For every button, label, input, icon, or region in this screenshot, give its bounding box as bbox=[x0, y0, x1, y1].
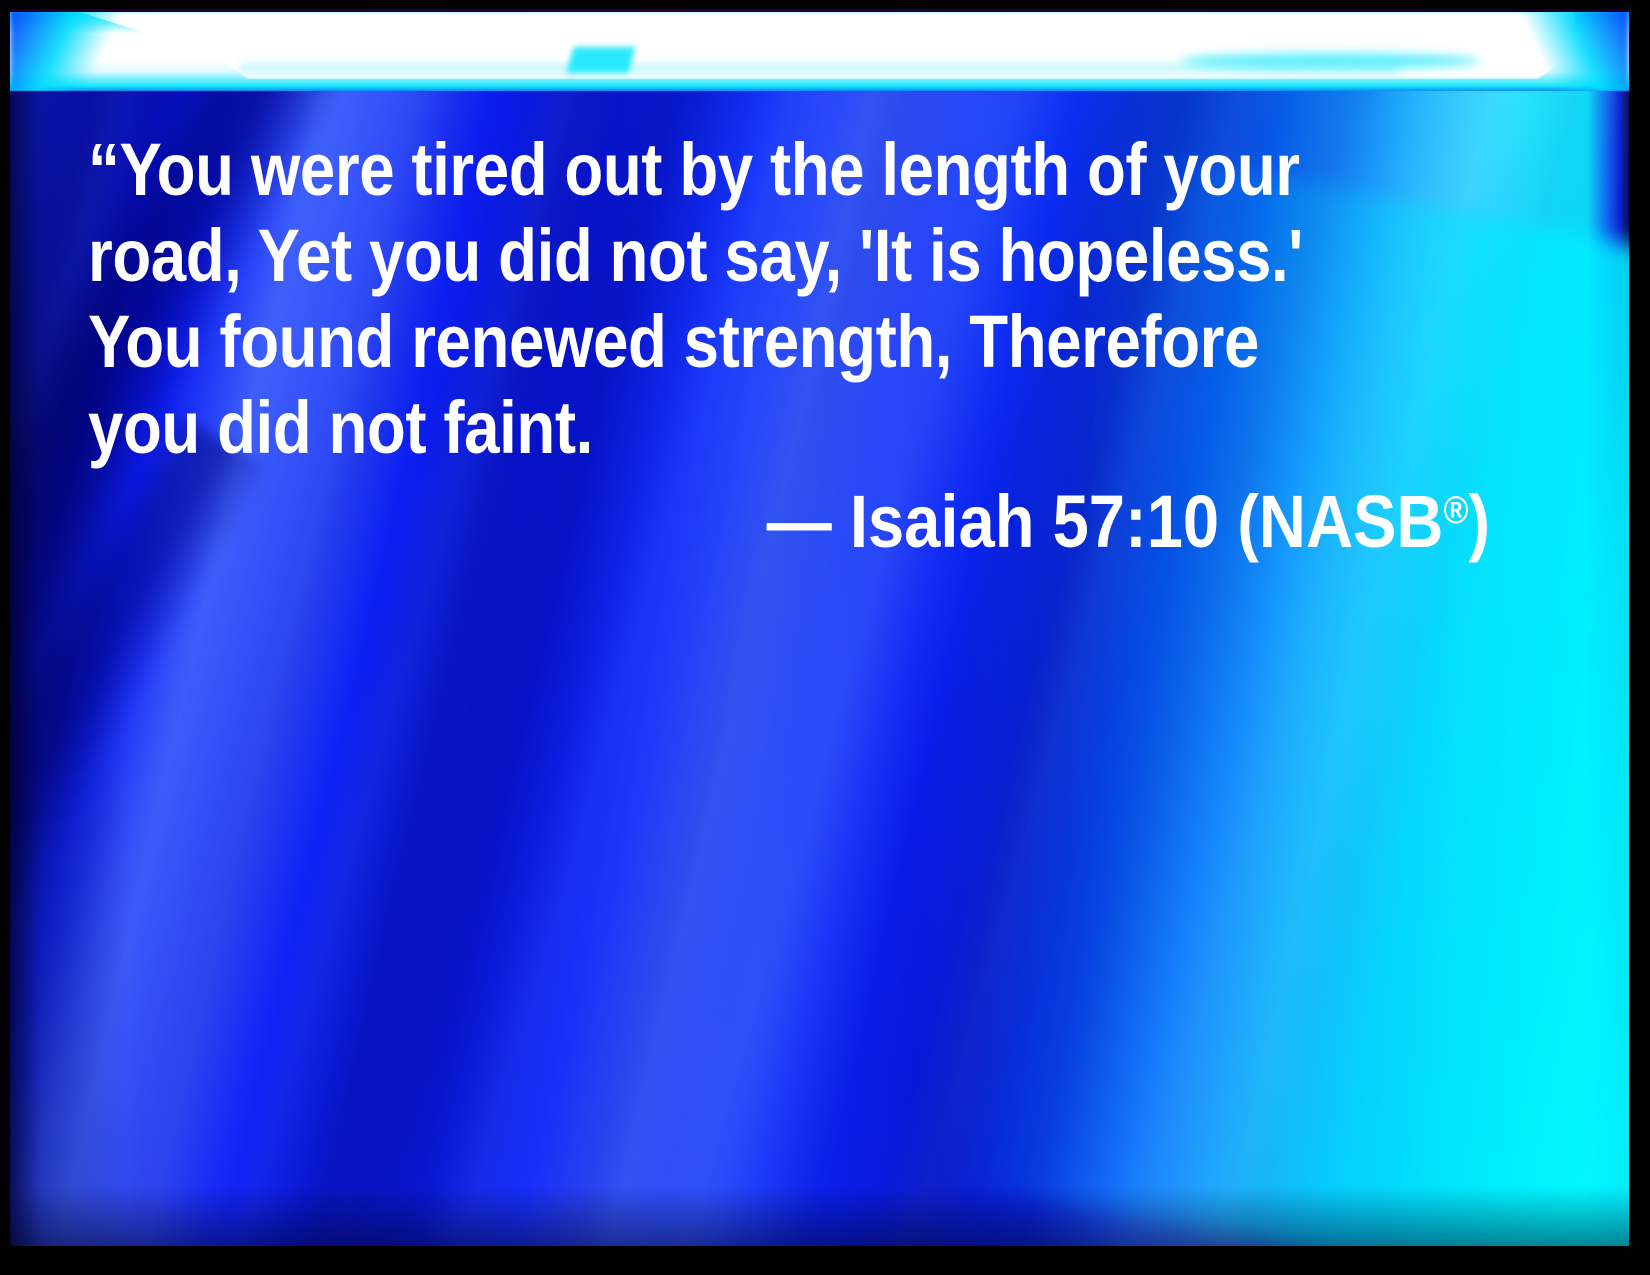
attribution-reference: 57:10 bbox=[1052, 480, 1219, 563]
top-glow-banner bbox=[10, 9, 1629, 91]
verse-attribution: — Isaiah 57:10 (NASB®) bbox=[88, 468, 1490, 565]
banner-right-shoulder bbox=[1509, 9, 1629, 91]
verse-line-4: you did not faint. bbox=[88, 385, 1309, 471]
attribution-book: Isaiah bbox=[850, 480, 1035, 563]
banner-top-hairline bbox=[10, 9, 1629, 12]
attribution-translation-open: (NASB bbox=[1237, 480, 1443, 563]
background-bottom-vignette bbox=[10, 1186, 1629, 1246]
attribution-em-dash: — bbox=[767, 480, 832, 563]
verse-text-block: “You were tired out by the length of you… bbox=[88, 127, 1508, 471]
verse-line-2: road, Yet you did not say, 'It is hopele… bbox=[88, 213, 1309, 299]
banner-cyan-sheen-right bbox=[1180, 53, 1480, 69]
banner-cyan-blob bbox=[567, 47, 635, 73]
attribution-translation-close: ) bbox=[1468, 480, 1490, 563]
verse-line-1: “You were tired out by the length of you… bbox=[88, 127, 1309, 213]
registered-trademark-icon: ® bbox=[1443, 489, 1468, 532]
verse-attribution-inner: — Isaiah 57:10 (NASB®) bbox=[767, 468, 1490, 565]
slide-canvas: “You were tired out by the length of you… bbox=[10, 9, 1629, 1246]
slide-frame: “You were tired out by the length of you… bbox=[0, 0, 1650, 1275]
banner-left-shoulder bbox=[10, 9, 130, 91]
verse-line-3: You found renewed strength, Therefore bbox=[88, 299, 1309, 385]
